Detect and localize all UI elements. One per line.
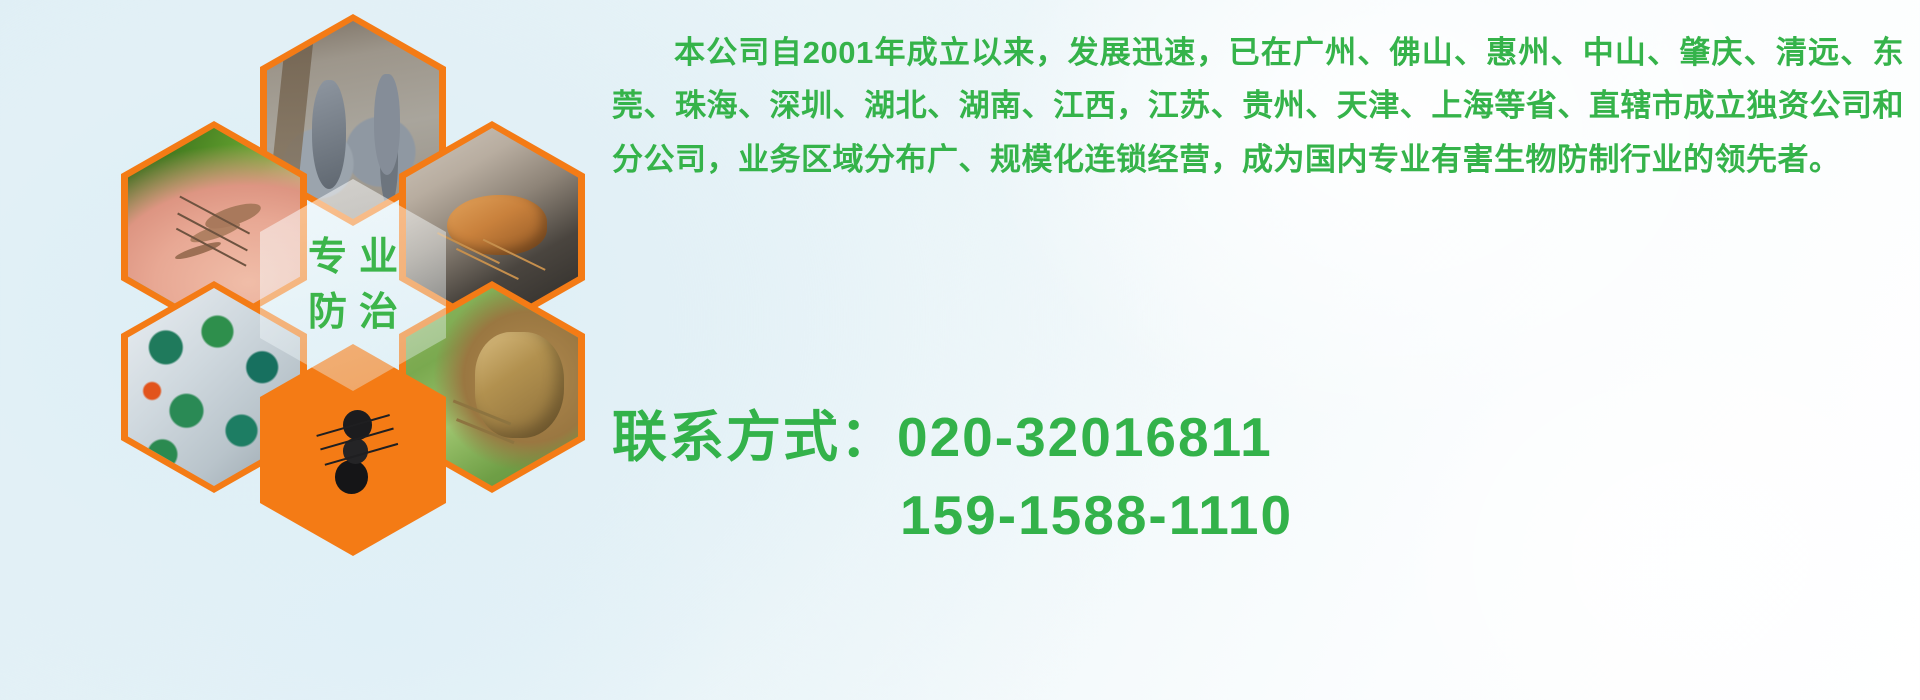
contact-secondary-phone[interactable]: 159-1588-1110 [612,476,1912,554]
contact-primary-phone[interactable]: 联系方式：020-32016811 [612,398,1912,476]
hex-tile-slogan: 专业 防治 [260,179,446,391]
slogan-panel: 专业 防治 [260,179,446,391]
hexagon-photo-cluster: 专业 防治 [88,8,588,564]
slogan-line-2: 防治 [296,285,410,340]
about-paragraph: 本公司自2001年成立以来，发展迅速，已在广州、佛山、惠州、中山、肇庆、清远、东… [612,26,1904,186]
contact-block: 联系方式：020-32016811 159-1588-1110 [612,398,1912,554]
slogan-line-1: 专业 [296,230,410,285]
about-copy-block: 本公司自2001年成立以来，发展迅速，已在广州、佛山、惠州、中山、肇庆、清远、东… [612,26,1904,186]
